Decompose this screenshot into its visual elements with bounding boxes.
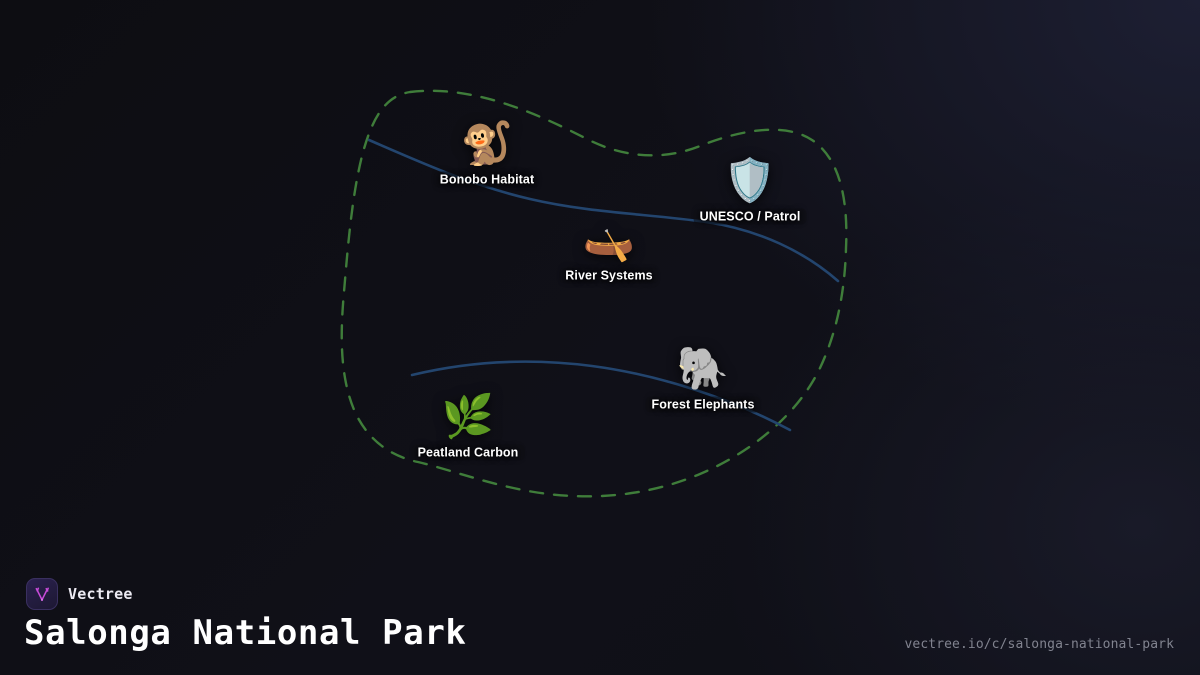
map-marker-label: Bonobo Habitat: [434, 172, 540, 188]
elephant-icon: 🐘: [677, 348, 729, 390]
map-marker-label: Peatland Carbon: [412, 445, 525, 461]
map-marker-label: Forest Elephants: [645, 397, 760, 413]
map-marker-forest-elephants[interactable]: 🐘 Forest Elephants: [645, 348, 760, 413]
brand-wordmark: Vectree: [68, 585, 133, 603]
map-marker-bonobo-habitat[interactable]: 🐒 Bonobo Habitat: [434, 123, 540, 188]
footer-bar: Vectree Salonga National Park vectree.io…: [0, 560, 1200, 675]
map-marker-label: River Systems: [559, 268, 658, 284]
shield-icon: 🛡️: [724, 160, 776, 202]
map-marker-river-systems[interactable]: 🛶 River Systems: [559, 219, 658, 284]
brand-row[interactable]: Vectree: [26, 578, 133, 610]
map-marker-label: UNESCO / Patrol: [694, 209, 807, 225]
page-title: Salonga National Park: [24, 613, 466, 653]
map-canvas[interactable]: 🐒 Bonobo Habitat 🛡️ UNESCO / Patrol 🛶 Ri…: [0, 0, 1200, 560]
herb-leaf-icon: 🌿: [442, 396, 494, 438]
canoe-icon: 🛶: [583, 219, 635, 261]
monkey-icon: 🐒: [461, 123, 513, 165]
screenshot-root: 🐒 Bonobo Habitat 🛡️ UNESCO / Patrol 🛶 Ri…: [0, 0, 1200, 675]
map-marker-peatland-carbon[interactable]: 🌿 Peatland Carbon: [412, 396, 525, 461]
map-marker-unesco-patrol[interactable]: 🛡️ UNESCO / Patrol: [694, 160, 807, 225]
footer-url: vectree.io/c/salonga-national-park: [904, 637, 1174, 652]
vectree-tree-logo-icon: [26, 578, 58, 610]
